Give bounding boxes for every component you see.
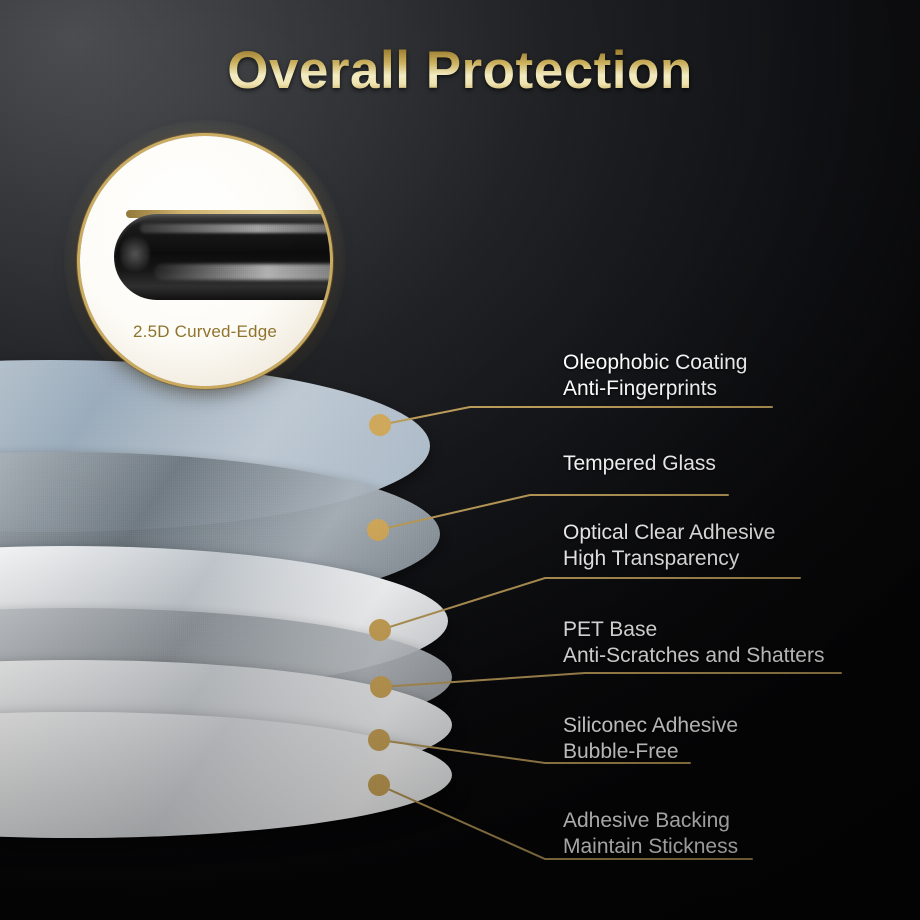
callout-2-line-1: Tempered Glass <box>563 452 716 475</box>
callout-label-4: PET Base Anti-Scratches and Shatters <box>563 617 824 669</box>
glass-highlight-bottom <box>154 264 330 280</box>
curved-edge-inset: 2.5D Curved-Edge <box>80 136 330 386</box>
callout-1-line-1: Oleophobic Coating <box>563 351 747 374</box>
callout-3-line-2: High Transparency <box>563 546 775 572</box>
inset-disc: 2.5D Curved-Edge <box>80 136 330 386</box>
callout-3-line-1: Optical Clear Adhesive <box>563 521 775 544</box>
inset-caption: 2.5D Curved-Edge <box>80 322 330 342</box>
callout-5-line-1: Siliconec Adhesive <box>563 714 738 737</box>
layer-stack-illustration <box>0 360 470 880</box>
glass-highlight-top <box>140 224 330 233</box>
callout-label-6: Adhesive Backing Maintain Stickness <box>563 808 738 860</box>
glass-highlight-curve <box>120 232 150 276</box>
callout-label-1: Oleophobic Coating Anti-Fingerprints <box>563 350 747 402</box>
callout-6-line-1: Adhesive Backing <box>563 809 730 832</box>
callout-label-5: Siliconec Adhesive Bubble-Free <box>563 713 738 765</box>
product-infographic: Oleophobic Coating Anti-Fingerprints Tem… <box>0 0 920 920</box>
callout-6-line-2: Maintain Stickness <box>563 834 738 860</box>
page-title: Overall Protection <box>0 40 920 101</box>
callout-4-line-1: PET Base <box>563 618 657 641</box>
callout-4-line-2: Anti-Scratches and Shatters <box>563 643 824 669</box>
callout-1-line-2: Anti-Fingerprints <box>563 376 747 402</box>
callout-label-2: Tempered Glass <box>563 451 716 477</box>
callout-5-line-2: Bubble-Free <box>563 739 738 765</box>
callout-label-3: Optical Clear Adhesive High Transparency <box>563 520 775 572</box>
